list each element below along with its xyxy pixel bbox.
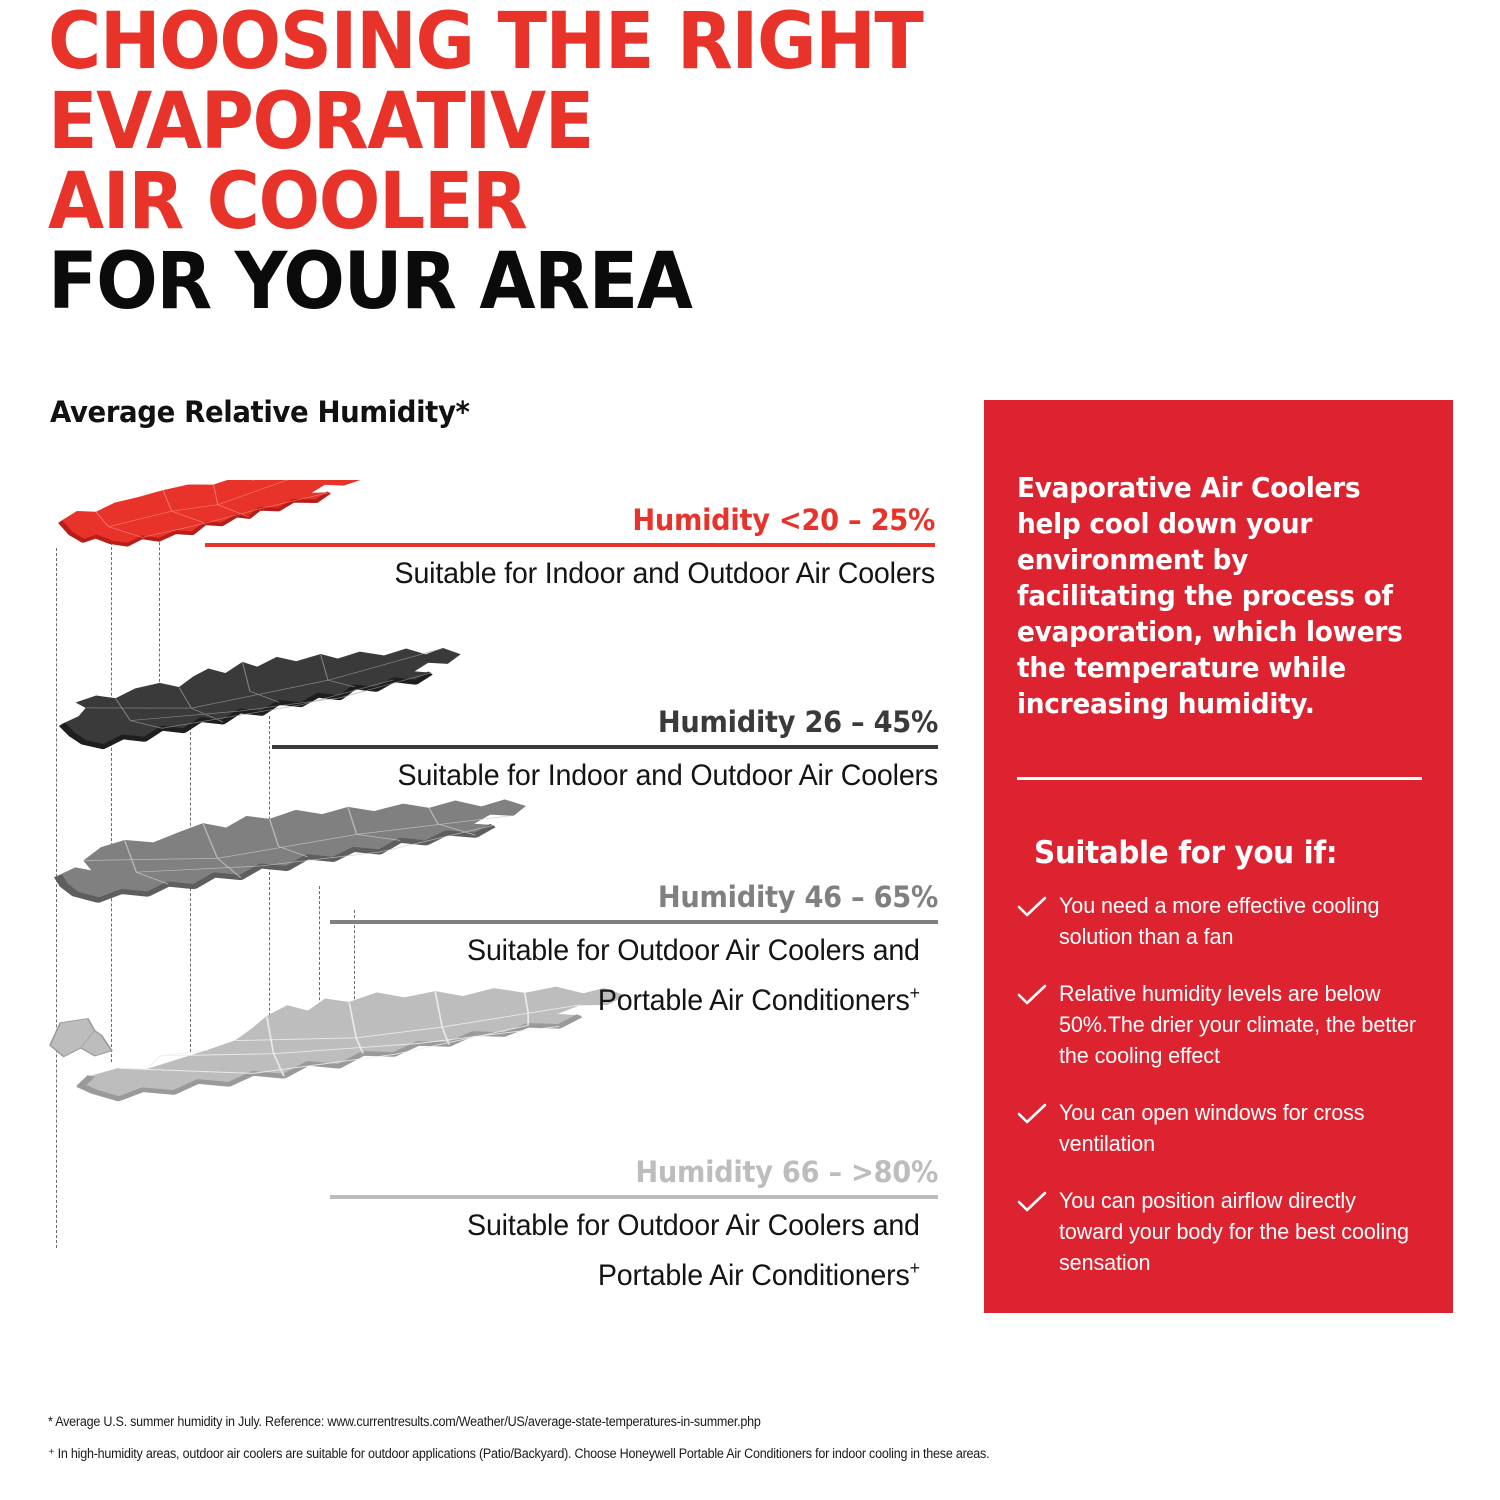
- info-panel: Evaporative Air Coolers help cool down y…: [984, 400, 1453, 1313]
- humidity-row-2-heading: Humidity 26 – 45%: [312, 705, 938, 739]
- humidity-row-3: Humidity 46 – 65% Suitable for Outdoor A…: [330, 880, 938, 1022]
- humidity-row-3-description: Suitable for Outdoor Air Coolers and Por…: [330, 930, 920, 1022]
- check-icon: [1017, 978, 1051, 1011]
- title-line-4: FOR YOUR AREA: [48, 242, 978, 322]
- checklist-item-label: Relative humidity levels are below 50%.T…: [1059, 978, 1425, 1071]
- checklist-item-label: You need a more effective cooling soluti…: [1059, 890, 1425, 952]
- footnote-1: * Average U.S. summer humidity in July. …: [48, 1414, 1164, 1430]
- humidity-row-1-rule: [205, 543, 935, 547]
- humidity-row-4: Humidity 66 – >80% Suitable for Outdoor …: [330, 1155, 938, 1297]
- humidity-row-1-heading: Humidity <20 – 25%: [249, 503, 935, 537]
- panel-divider: [1017, 777, 1422, 780]
- list-item: You need a more effective cooling soluti…: [1017, 890, 1432, 952]
- section-label: Average Relative Humidity*: [50, 395, 470, 429]
- humidity-row-3-rule: [330, 920, 938, 924]
- check-icon: [1017, 1185, 1051, 1218]
- humidity-row-3-description-line1: Suitable for Outdoor Air Coolers and: [467, 934, 920, 967]
- humidity-row-4-description-line1: Suitable for Outdoor Air Coolers and: [467, 1209, 920, 1242]
- humidity-row-4-description-line2: Portable Air Conditioners: [598, 1259, 910, 1292]
- footnote-2: ⁺ In high-humidity areas, outdoor air co…: [48, 1446, 1164, 1462]
- list-item: You can open windows for cross ventilati…: [1017, 1097, 1432, 1159]
- humidity-row-3-heading: Humidity 46 – 65%: [366, 880, 938, 914]
- check-icon: [1017, 890, 1051, 923]
- title-line-1: CHOOSING THE RIGHT: [48, 2, 978, 82]
- humidity-row-3-description-line2: Portable Air Conditioners: [598, 984, 910, 1017]
- humidity-row-1-description: Suitable for Indoor and Outdoor Air Cool…: [227, 553, 935, 595]
- panel-subheading: Suitable for you if:: [1034, 835, 1337, 871]
- panel-lead-text: Evaporative Air Coolers help cool down y…: [1017, 470, 1411, 722]
- footnotes: * Average U.S. summer humidity in July. …: [48, 1414, 1248, 1478]
- page-title: CHOOSING THE RIGHT EVAPORATIVE AIR COOLE…: [48, 2, 1048, 322]
- footnote-marker-plus-3: +: [910, 982, 920, 1003]
- checklist: You need a more effective cooling soluti…: [1017, 890, 1432, 1304]
- title-line-3: AIR COOLER: [48, 162, 978, 242]
- humidity-row-1: Humidity <20 – 25% Suitable for Indoor a…: [205, 503, 935, 595]
- check-icon: [1017, 1097, 1051, 1130]
- humidity-row-4-heading: Humidity 66 – >80%: [366, 1155, 938, 1189]
- checklist-item-label: You can position airflow directly toward…: [1059, 1185, 1425, 1278]
- humidity-row-4-rule: [330, 1195, 938, 1199]
- humidity-row-2-description: Suitable for Indoor and Outdoor Air Cool…: [292, 755, 938, 797]
- humidity-row-2-rule: [272, 745, 938, 749]
- title-line-2: EVAPORATIVE: [48, 82, 978, 162]
- checklist-item-label: You can open windows for cross ventilati…: [1059, 1097, 1425, 1159]
- list-item: Relative humidity levels are below 50%.T…: [1017, 978, 1432, 1071]
- humidity-row-2: Humidity 26 – 45% Suitable for Indoor an…: [272, 705, 938, 797]
- footnote-marker-plus-4: +: [910, 1257, 920, 1278]
- infographic-page: CHOOSING THE RIGHT EVAPORATIVE AIR COOLE…: [0, 0, 1500, 1500]
- list-item: You can position airflow directly toward…: [1017, 1185, 1432, 1278]
- humidity-row-4-description: Suitable for Outdoor Air Coolers and Por…: [330, 1205, 920, 1297]
